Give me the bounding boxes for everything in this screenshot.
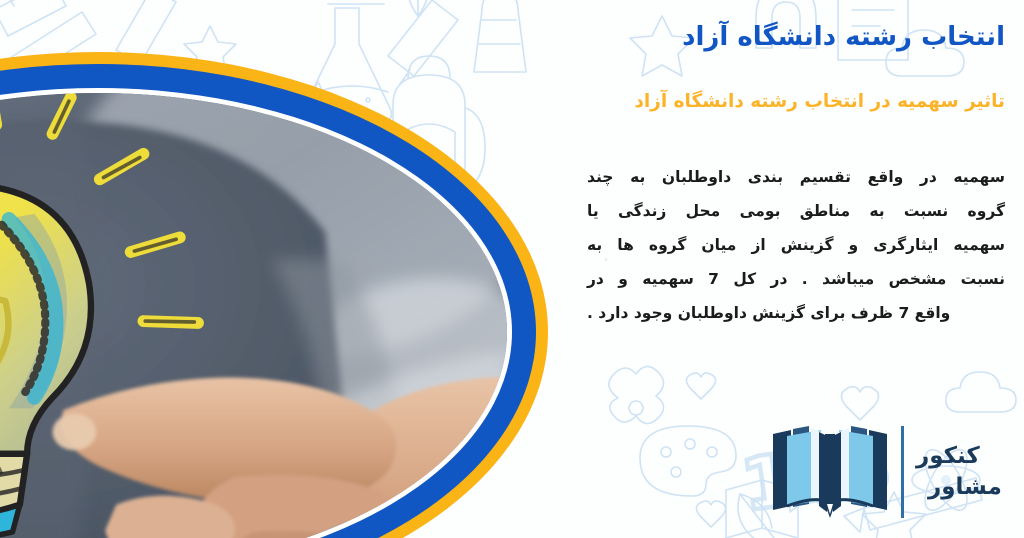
logo-line-1: کنکور	[916, 444, 980, 469]
body-copy: سهمیه در واقع تقسیم بندی داوطلبان به چند…	[587, 160, 1005, 330]
brand-logo[interactable]: کنکور مشاور	[769, 416, 1004, 528]
body-line: گروه نسبت به مناطق بومی محل زندگی یا	[587, 194, 1005, 228]
hero-photo	[0, 93, 507, 538]
page-subtitle: تاثیر سهمیه در انتخاب رشته دانشگاه آزاد	[575, 90, 1005, 114]
logo-divider	[901, 426, 904, 518]
body-line: واقع 7 ظرف برای گزینش داوطلبان وجود دارد…	[587, 296, 1005, 330]
body-line: نسبت مشخص میباشد . در کل 7 سهمیه و در	[587, 262, 1005, 296]
photo-scene-illustration	[0, 93, 507, 538]
body-line: سهمیه ایثارگری و گزینش از میان گروه ها ب…	[587, 228, 1005, 262]
logo-wordmark: کنکور مشاور	[916, 444, 1002, 501]
body-line: سهمیه در واقع تقسیم بندی داوطلبان به چند	[587, 160, 1005, 194]
leaf-icon	[408, 0, 428, 16]
open-book-pencil-icon	[769, 420, 891, 524]
banner-root: 123	[0, 0, 1024, 538]
photo-oval-frame	[0, 52, 548, 538]
logo-line-2: مشاور	[916, 475, 1002, 500]
ruler-icon	[0, 0, 66, 36]
page-title: انتخاب رشته دانشگاه آزاد	[575, 21, 1005, 54]
